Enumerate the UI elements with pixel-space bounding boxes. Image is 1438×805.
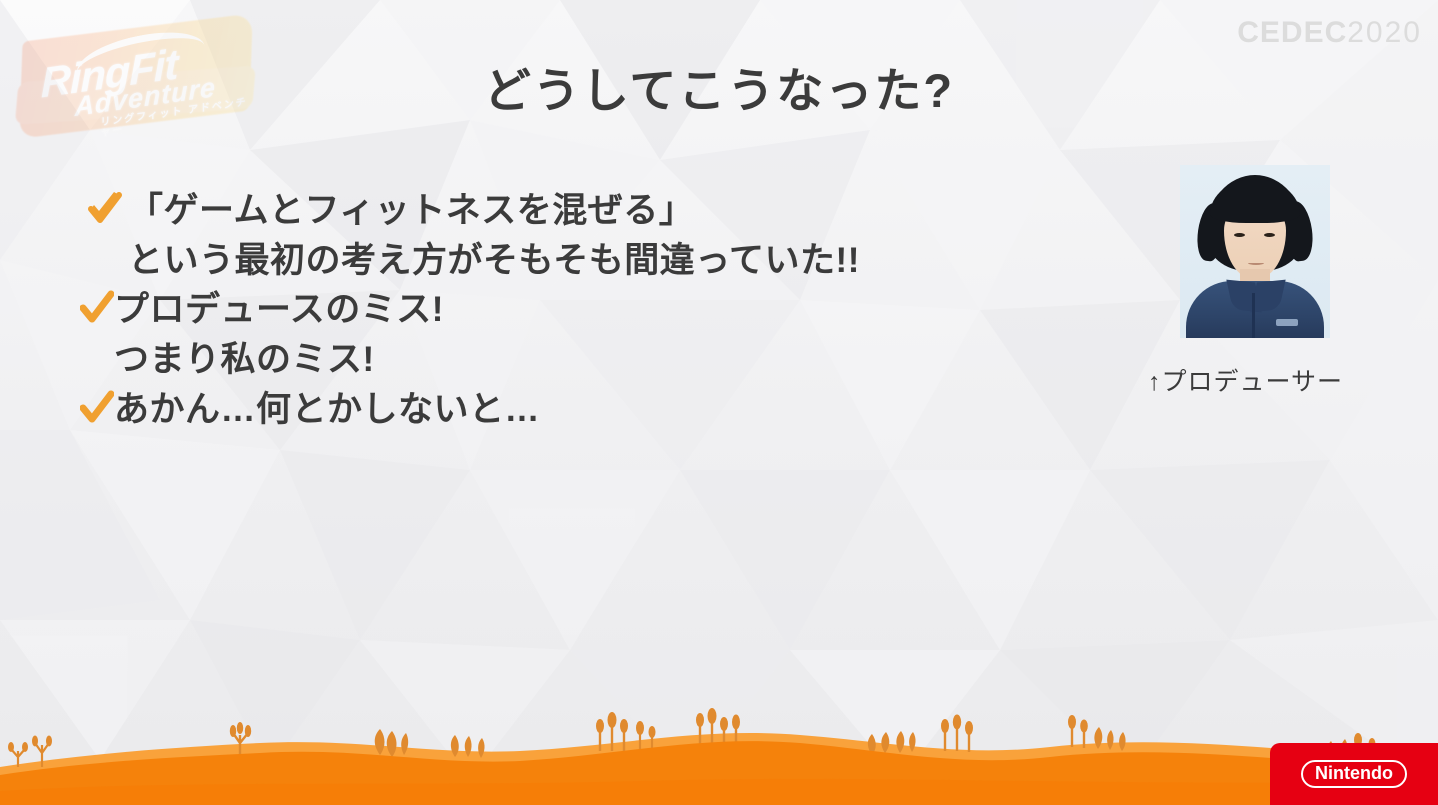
plant-silhouettes <box>8 708 1376 767</box>
cedec-wordmark: CEDEC <box>1237 16 1347 49</box>
page-title: どうしてこうなった? <box>0 52 1438 121</box>
portrait-eye-left <box>1234 233 1245 237</box>
list-item-label: あかん…何とかしないと… <box>114 385 540 435</box>
nintendo-logo: Nintendo <box>1270 743 1438 805</box>
list-item-label: 「ゲームとフィットネスを混ぜる」 という最初の考え方がそもそも間違っていた!! <box>128 186 860 285</box>
portrait-mouth <box>1248 261 1264 265</box>
presentation-slide: RingFit Adventure リングフィット アドベンチャー CEDEC2… <box>0 0 1438 805</box>
cedec-year: 2020 <box>1347 16 1422 49</box>
nintendo-wordmark: Nintendo <box>1301 760 1407 789</box>
list-item: あかん…何とかしないと… <box>80 385 1100 435</box>
portrait-logo-badge <box>1276 319 1298 326</box>
check-icon <box>80 389 114 429</box>
hill-front <box>0 741 1438 805</box>
check-icon <box>88 190 122 230</box>
list-item: 「ゲームとフィットネスを混ぜる」 という最初の考え方がそもそも間違っていた!! <box>88 186 1100 285</box>
photo-caption: ↑プロデューサー <box>1148 362 1330 398</box>
bullet-list: 「ゲームとフィットネスを混ぜる」 という最初の考え方がそもそも間違っていた!! … <box>80 186 1100 434</box>
portrait-placket <box>1252 293 1255 338</box>
hill-back <box>0 733 1438 805</box>
bottom-scenery-decoration <box>0 695 1438 805</box>
portrait-fringe <box>1210 179 1300 223</box>
cedec-logo: CEDEC2020 <box>1237 16 1422 50</box>
list-item-label: プロデュースのミス! つまり私のミス! <box>114 285 444 384</box>
producer-photo-block: ↑プロデューサー <box>1180 165 1330 398</box>
check-icon <box>80 289 114 329</box>
avatar <box>1180 165 1330 338</box>
portrait-eye-right <box>1264 233 1275 237</box>
hill-front-shadow <box>0 779 1438 805</box>
list-item: プロデュースのミス! つまり私のミス! <box>80 285 1100 384</box>
